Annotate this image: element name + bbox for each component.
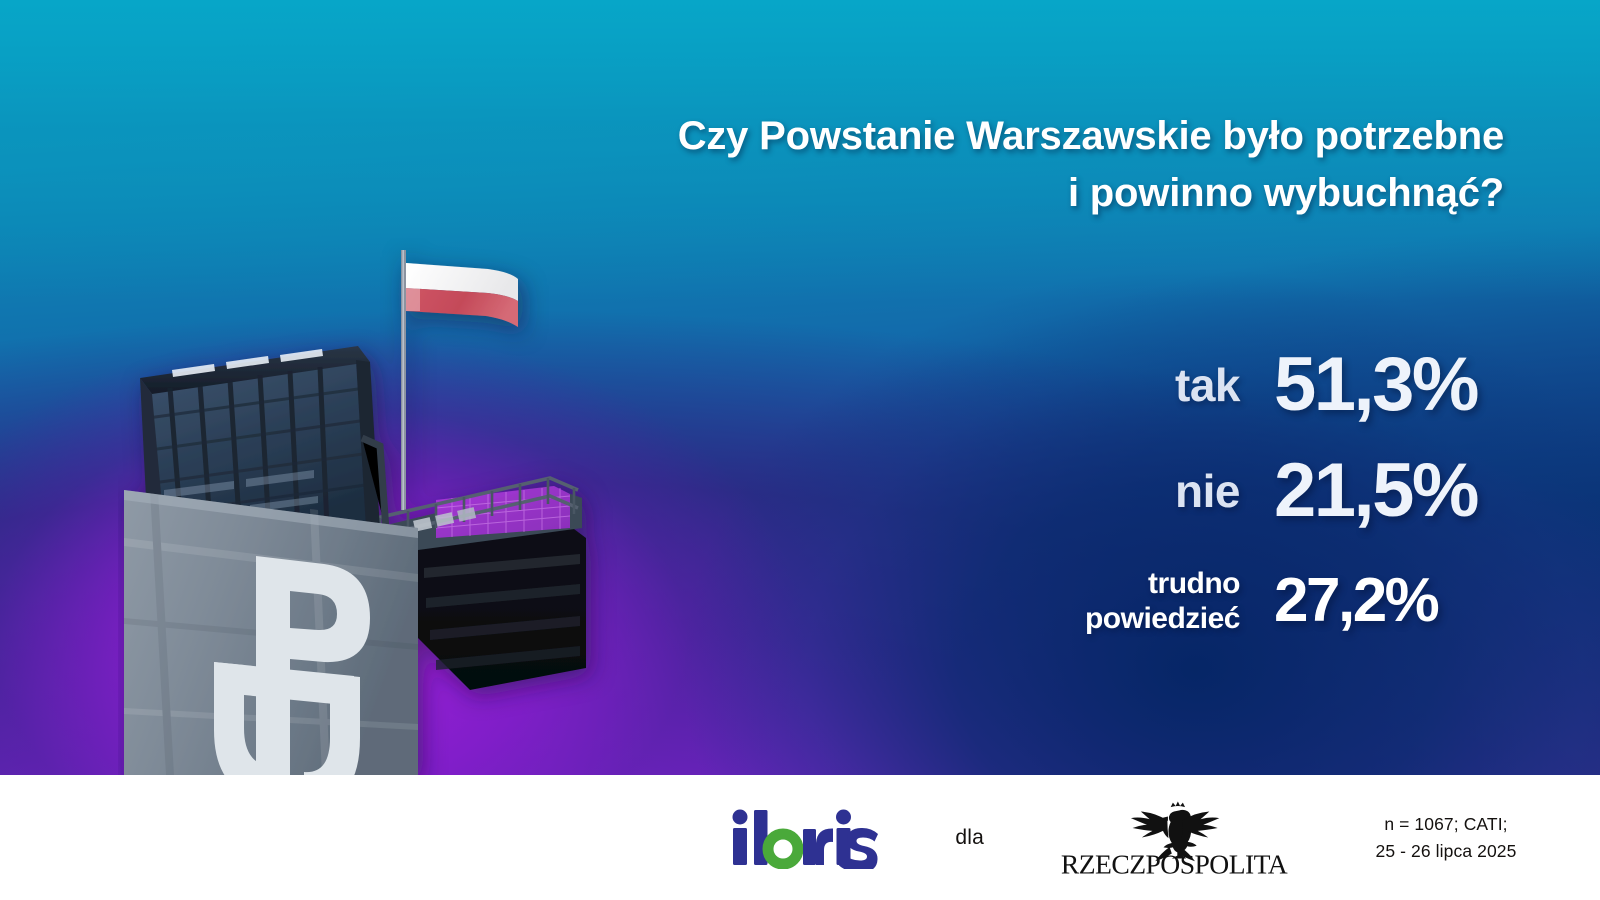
- rzeczpospolita-wordmark: RZECZPOSPOLITA: [1061, 848, 1288, 877]
- result-label-trudno-powiedziec: trudno powiedzieć: [1085, 566, 1240, 637]
- result-row-trudno-powiedziec: trudno powiedzieć 27,2%: [944, 551, 1504, 651]
- result-value-trudno-powiedziec: 27,2%: [1274, 570, 1504, 632]
- result-label-tak: tak: [1175, 362, 1240, 408]
- result-row-nie: nie 21,5%: [944, 439, 1504, 543]
- result-value-nie: 21,5%: [1274, 453, 1504, 529]
- infographic-poster: Czy Powstanie Warszawskie było potrzebne…: [0, 0, 1600, 900]
- for-label: dla: [955, 826, 984, 850]
- result-label-nie: nie: [1175, 468, 1240, 514]
- polish-flag: [406, 263, 518, 327]
- warsaw-uprising-monument-photo: [118, 238, 618, 775]
- footer-content: dla: [728, 775, 1546, 900]
- title-line-1: Czy Powstanie Warszawskie było potrzebne: [584, 108, 1504, 165]
- poll-question-title: Czy Powstanie Warszawskie było potrzebne…: [584, 108, 1504, 222]
- ibris-logo: [728, 807, 883, 869]
- methodology-note: n = 1067; CATI; 25 - 26 lipca 2025: [1346, 811, 1546, 864]
- title-line-2: i powinno wybuchnąć?: [584, 165, 1504, 222]
- rzeczpospolita-logo: RZECZPOSPOLITA: [1058, 799, 1290, 877]
- result-row-tak: tak 51,3%: [944, 333, 1504, 437]
- result-value-tak: 51,3%: [1274, 347, 1504, 423]
- footer-bar: dla: [0, 775, 1600, 900]
- poll-results: tak 51,3% nie 21,5% trudno powiedzieć 27…: [944, 333, 1504, 651]
